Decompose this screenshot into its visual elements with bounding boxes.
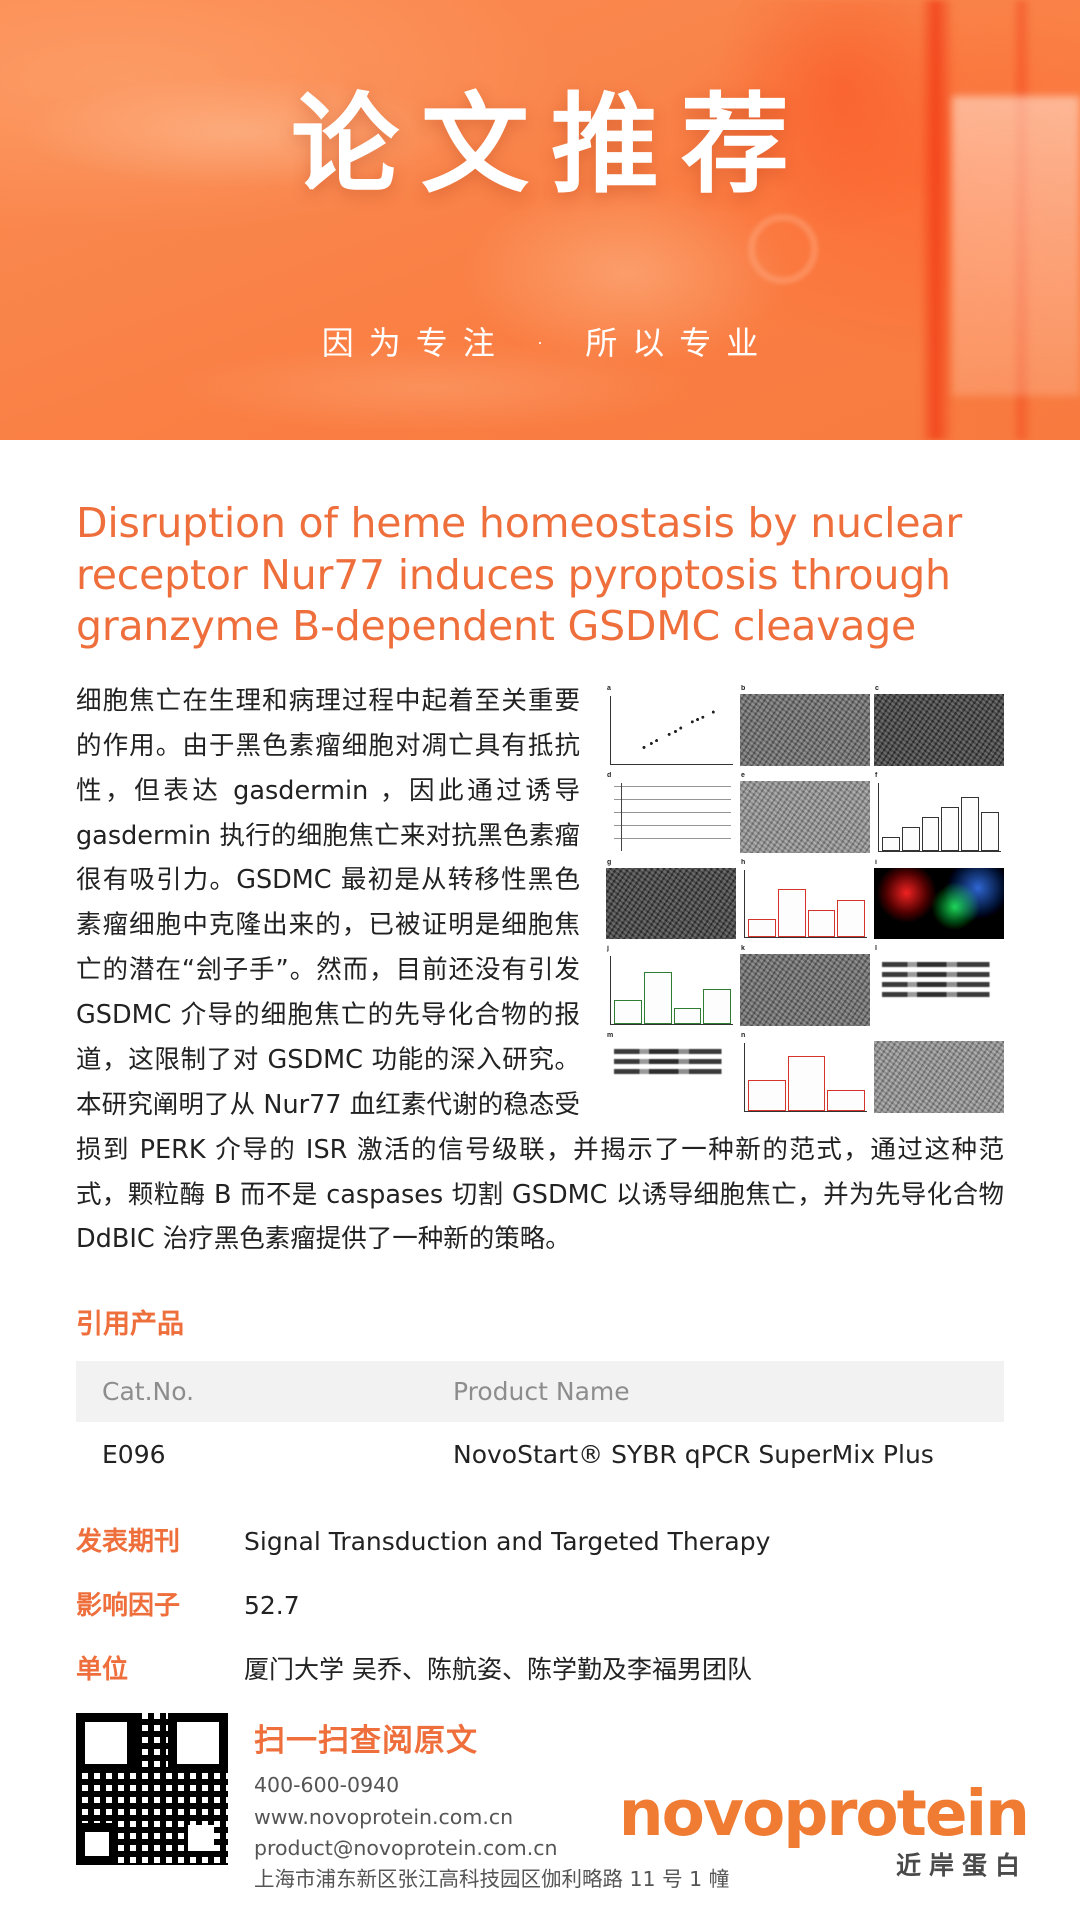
- western-blot-graphic: [614, 1049, 731, 1105]
- cell-cat-no: E096: [76, 1422, 431, 1487]
- metadata-list: 发表期刊 Signal Transduction and Targeted Th…: [76, 1521, 1004, 1686]
- figure-panel-n: n: [740, 1032, 870, 1115]
- column-header-product-name: Product Name: [431, 1361, 1004, 1422]
- research-figure: a b c d e: [606, 685, 1004, 1115]
- figure-panel-extra: [874, 1032, 1004, 1115]
- figure-panel-j: j: [606, 945, 736, 1028]
- panel-label: c: [875, 685, 879, 692]
- panel-label: h: [741, 859, 745, 866]
- fluorescence-image-graphic: [874, 868, 1004, 940]
- metadata-row-impact-factor: 影响因子 52.7: [76, 1585, 1004, 1622]
- abstract-section: a b c d e: [76, 679, 1004, 1262]
- panel-label: g: [607, 859, 611, 866]
- logo-chinese-name: 近岸蛋白: [619, 1846, 1028, 1882]
- figure-panel-c: c: [874, 685, 1004, 768]
- panel-label: j: [607, 945, 609, 952]
- table-row: E096 NovoStart® SYBR qPCR SuperMix Plus: [76, 1422, 1004, 1487]
- figure-panel-i: i: [874, 859, 1004, 942]
- figure-panel-a: a: [606, 685, 736, 768]
- bar-chart-graphic: [744, 870, 867, 939]
- panel-label: m: [607, 1032, 613, 1039]
- metadata-value: 厦门大学 吴乔、陈航姿、陈学勤及李福男团队: [244, 1650, 752, 1686]
- brand-logo: novoprotein 近岸蛋白: [619, 1784, 1028, 1882]
- micrograph-graphic: [740, 954, 870, 1026]
- panel-label: d: [607, 772, 611, 779]
- figure-panel-b: b: [740, 685, 870, 768]
- figure-panel-m: m: [606, 1032, 736, 1115]
- table-header-row: Cat.No. Product Name: [76, 1361, 1004, 1422]
- panel-label: l: [875, 945, 877, 952]
- metadata-row-journal: 发表期刊 Signal Transduction and Targeted Th…: [76, 1521, 1004, 1558]
- products-table: Cat.No. Product Name E096 NovoStart® SYB…: [76, 1361, 1004, 1487]
- column-header-cat-no: Cat.No.: [76, 1361, 431, 1422]
- metadata-key: 单位: [76, 1649, 244, 1686]
- micrograph-graphic: [874, 694, 1004, 766]
- chemical-structure-graphic: [614, 783, 731, 851]
- hero-ring-shape: [748, 214, 818, 284]
- figure-panel-l: l: [874, 945, 1004, 1028]
- content-card: Disruption of heme homeostasis by nuclea…: [24, 440, 1056, 1895]
- panel-label: b: [741, 685, 745, 692]
- bar-chart-graphic: [610, 956, 733, 1025]
- figure-panel-f: f: [874, 772, 1004, 855]
- panel-label: n: [741, 1032, 745, 1039]
- metadata-row-institution: 单位 厦门大学 吴乔、陈航姿、陈学勤及李福男团队: [76, 1649, 1004, 1686]
- metadata-value: Signal Transduction and Targeted Therapy: [244, 1527, 770, 1556]
- qr-code[interactable]: [76, 1713, 228, 1865]
- figure-panel-g: g: [606, 859, 736, 942]
- micrograph-graphic: [606, 868, 736, 940]
- panel-label: a: [607, 685, 611, 692]
- figure-panel-k: k: [740, 945, 870, 1028]
- micrograph-graphic: [740, 781, 870, 853]
- metadata-key: 影响因子: [76, 1585, 244, 1622]
- bar-chart-graphic: [744, 1043, 867, 1112]
- panel-label: i: [875, 859, 877, 866]
- panel-label: f: [875, 772, 877, 779]
- cell-product-name: NovoStart® SYBR qPCR SuperMix Plus: [431, 1422, 1004, 1487]
- metadata-value: 52.7: [244, 1591, 300, 1620]
- qr-finder-bottom-left: [76, 1823, 118, 1865]
- hero-accent-bar: [920, 0, 954, 440]
- hero-subtitle: 因为专注 · 所以专业: [0, 318, 1080, 364]
- poster-root: 论文推荐 因为专注 · 所以专业 Disruption of heme home…: [0, 0, 1080, 1920]
- panel-label: k: [741, 945, 745, 952]
- hero-banner: 论文推荐 因为专注 · 所以专业: [0, 0, 1080, 440]
- qr-quiet-zone: [188, 1825, 214, 1851]
- scan-cta-title: 扫一扫查阅原文: [254, 1715, 729, 1760]
- micrograph-graphic: [874, 1041, 1004, 1113]
- western-blot-graphic: [882, 962, 999, 1018]
- micrograph-graphic: [740, 694, 870, 766]
- logo-wordmark: novoprotein: [619, 1784, 1028, 1844]
- figure-panel-d: d: [606, 772, 736, 855]
- products-section-label: 引用产品: [76, 1302, 1004, 1341]
- page-title: Disruption of heme homeostasis by nuclea…: [76, 498, 1004, 653]
- scatter-plot-graphic: [610, 696, 733, 765]
- figure-panel-e: e: [740, 772, 870, 855]
- hero-title: 论文推荐: [0, 92, 1080, 200]
- metadata-key: 发表期刊: [76, 1521, 244, 1558]
- bar-chart-graphic: [878, 783, 1001, 852]
- hero-texture: [0, 0, 1080, 440]
- figure-panel-h: h: [740, 859, 870, 942]
- panel-label: e: [741, 772, 745, 779]
- figure-panel-grid: a b c d e: [606, 685, 1004, 1115]
